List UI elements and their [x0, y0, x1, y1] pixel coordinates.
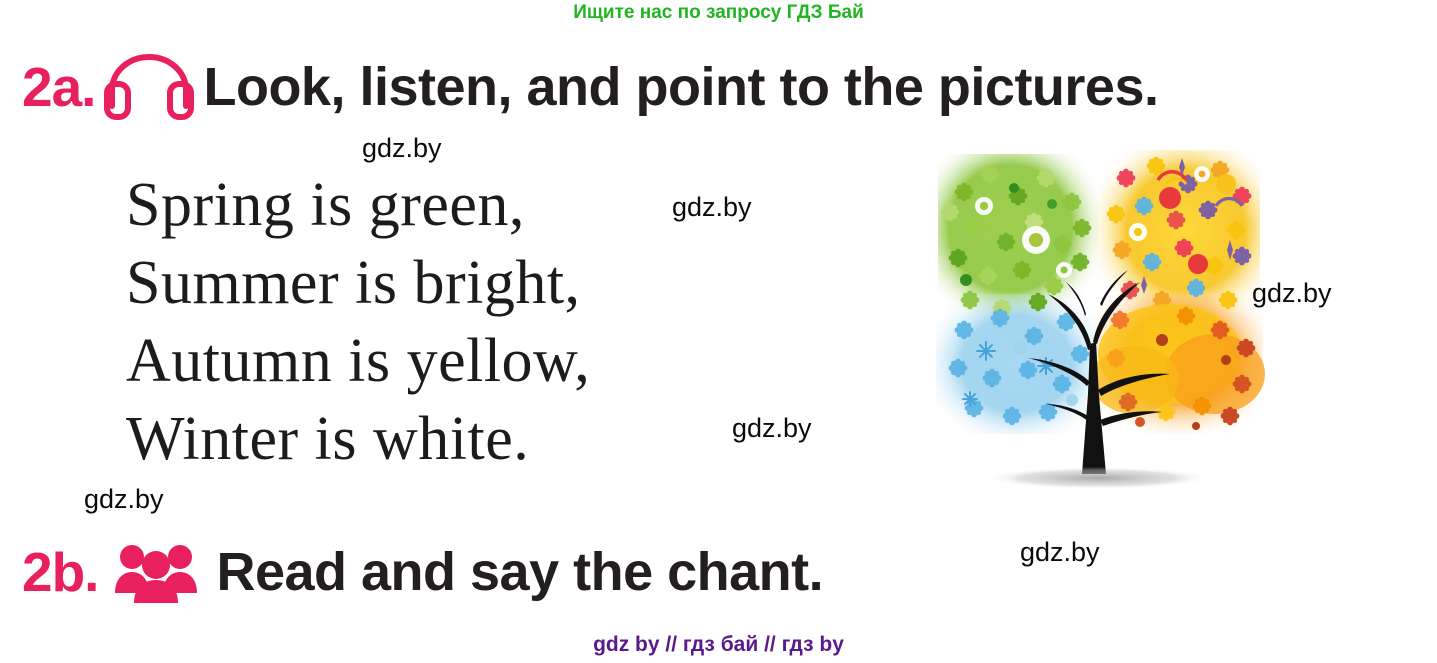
task-title-2b: Read and say the chant. — [216, 545, 823, 599]
task-title-2a: Look, listen, and point to the pictures. — [203, 60, 1158, 114]
four-seasons-tree-image — [930, 144, 1275, 494]
chant-line-4: Winter is white. — [126, 400, 590, 478]
watermark-gdz: gdz.by — [732, 413, 812, 444]
watermark-gdz: gdz.by — [84, 484, 164, 515]
chant-text: Spring is green, Summer is bright, Autum… — [126, 166, 590, 478]
chant-line-3: Autumn is yellow, — [126, 322, 590, 400]
tree-shadow — [986, 467, 1210, 489]
task-number-2b: 2b. — [22, 545, 98, 600]
task-heading-2a: 2a. Look, listen, and point to the pictu… — [22, 52, 1159, 122]
footer-links-text: gdz by // гдз бай // гдз by — [0, 633, 1437, 657]
task-number-2a: 2a. — [22, 60, 95, 115]
watermark-gdz: gdz.by — [1020, 537, 1100, 568]
task-heading-2b: 2b. Read and say the chant. — [22, 537, 823, 607]
watermark-gdz: gdz.by — [672, 192, 752, 223]
watermark-gdz: gdz.by — [362, 133, 442, 164]
group-of-people-icon — [110, 537, 202, 607]
headphones-icon — [101, 52, 197, 122]
chant-line-1: Spring is green, — [126, 166, 590, 244]
chant-line-2: Summer is bright, — [126, 244, 590, 322]
promo-banner-text: Ищите нас по запросу ГДЗ Бай — [0, 2, 1437, 24]
watermark-gdz: gdz.by — [1252, 278, 1332, 309]
